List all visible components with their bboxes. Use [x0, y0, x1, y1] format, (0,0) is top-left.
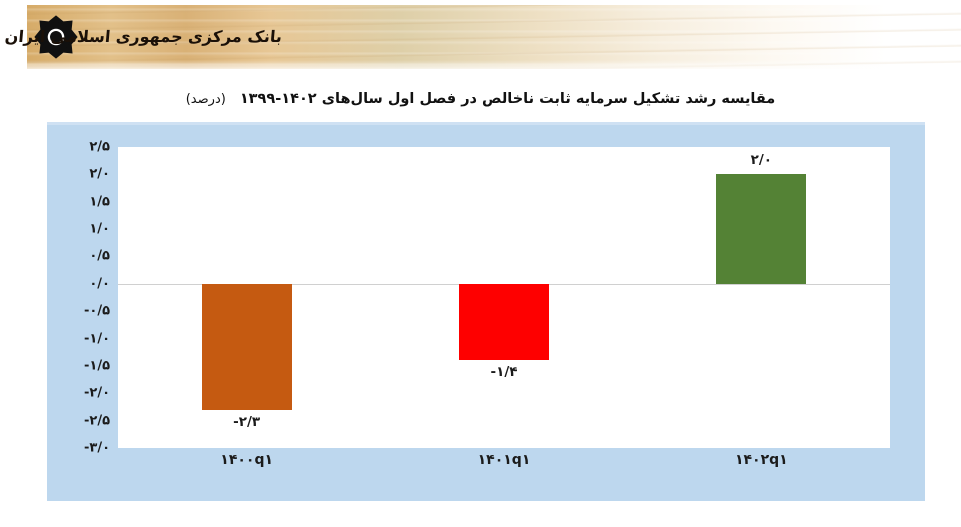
- y-axis-tick-label: -۱/۰: [84, 331, 110, 346]
- bar-value-label: ۲/۰: [751, 152, 772, 168]
- y-axis-tick-label: ۱/۵: [89, 194, 110, 209]
- bar-slot: ۲/۰: [633, 147, 890, 448]
- x-axis: ۱۴۰۰q۱۱۴۰۱q۱۱۴۰۲q۱: [118, 452, 890, 482]
- y-axis-tick-label: -۰/۵: [84, 304, 110, 319]
- header-banner: بانک مرکزی جمهوری اسلامی ایران: [0, 0, 961, 74]
- page-title: مقایسه رشد تشکیل سرمایه ثابت ناخالص در ف…: [240, 91, 775, 107]
- plot-area: -۲/۳-۱/۴۲/۰: [118, 147, 890, 448]
- bar-2[interactable]: [459, 284, 549, 361]
- y-axis-tick-label: -۲/۰: [84, 386, 110, 401]
- bank-name-text: بانک مرکزی جمهوری اسلامی ایران: [91, 20, 284, 54]
- bar-value-label: -۱/۴: [490, 364, 517, 380]
- y-axis-tick-label: ۱/۰: [89, 222, 110, 237]
- x-axis-tick-label: ۱۴۰۱q۱: [478, 452, 531, 468]
- chart-title-unit: (درصد): [186, 92, 226, 107]
- bar-3[interactable]: [716, 174, 806, 283]
- y-axis-tick-label: ۰/۵: [89, 249, 110, 264]
- y-axis-tick-label: -۲/۵: [84, 413, 110, 428]
- y-axis-tick-label: ۲/۵: [89, 140, 110, 155]
- bar-slot: -۱/۴: [375, 147, 632, 448]
- bar-slot: -۲/۳: [118, 147, 375, 448]
- y-axis: ۲/۵۲/۰۱/۵۱/۰۰/۵۰/۰-۰/۵-۱/۰-۱/۵-۲/۰-۲/۵-۳…: [47, 147, 116, 448]
- chart-panel-top-strip: [47, 122, 925, 125]
- bar-1[interactable]: [202, 284, 292, 410]
- banner-fade-overlay: [27, 60, 961, 74]
- x-axis-tick-label: ۱۴۰۰q۱: [220, 452, 273, 468]
- chart-panel: ۲/۵۲/۰۱/۵۱/۰۰/۵۰/۰-۰/۵-۱/۰-۱/۵-۲/۰-۲/۵-۳…: [47, 122, 925, 501]
- y-axis-tick-label: ۲/۰: [89, 167, 110, 182]
- chart-title-row: مقایسه رشد تشکیل سرمایه ثابت ناخالص در ف…: [0, 88, 961, 114]
- y-axis-tick-label: ۰/۰: [89, 276, 110, 291]
- y-axis-tick-label: -۱/۵: [84, 358, 110, 373]
- y-axis-tick-label: -۳/۰: [84, 441, 110, 456]
- bar-value-label: -۲/۳: [233, 414, 260, 430]
- x-axis-tick-label: ۱۴۰۲q۱: [735, 452, 788, 468]
- bars-layer: -۲/۳-۱/۴۲/۰: [118, 147, 890, 448]
